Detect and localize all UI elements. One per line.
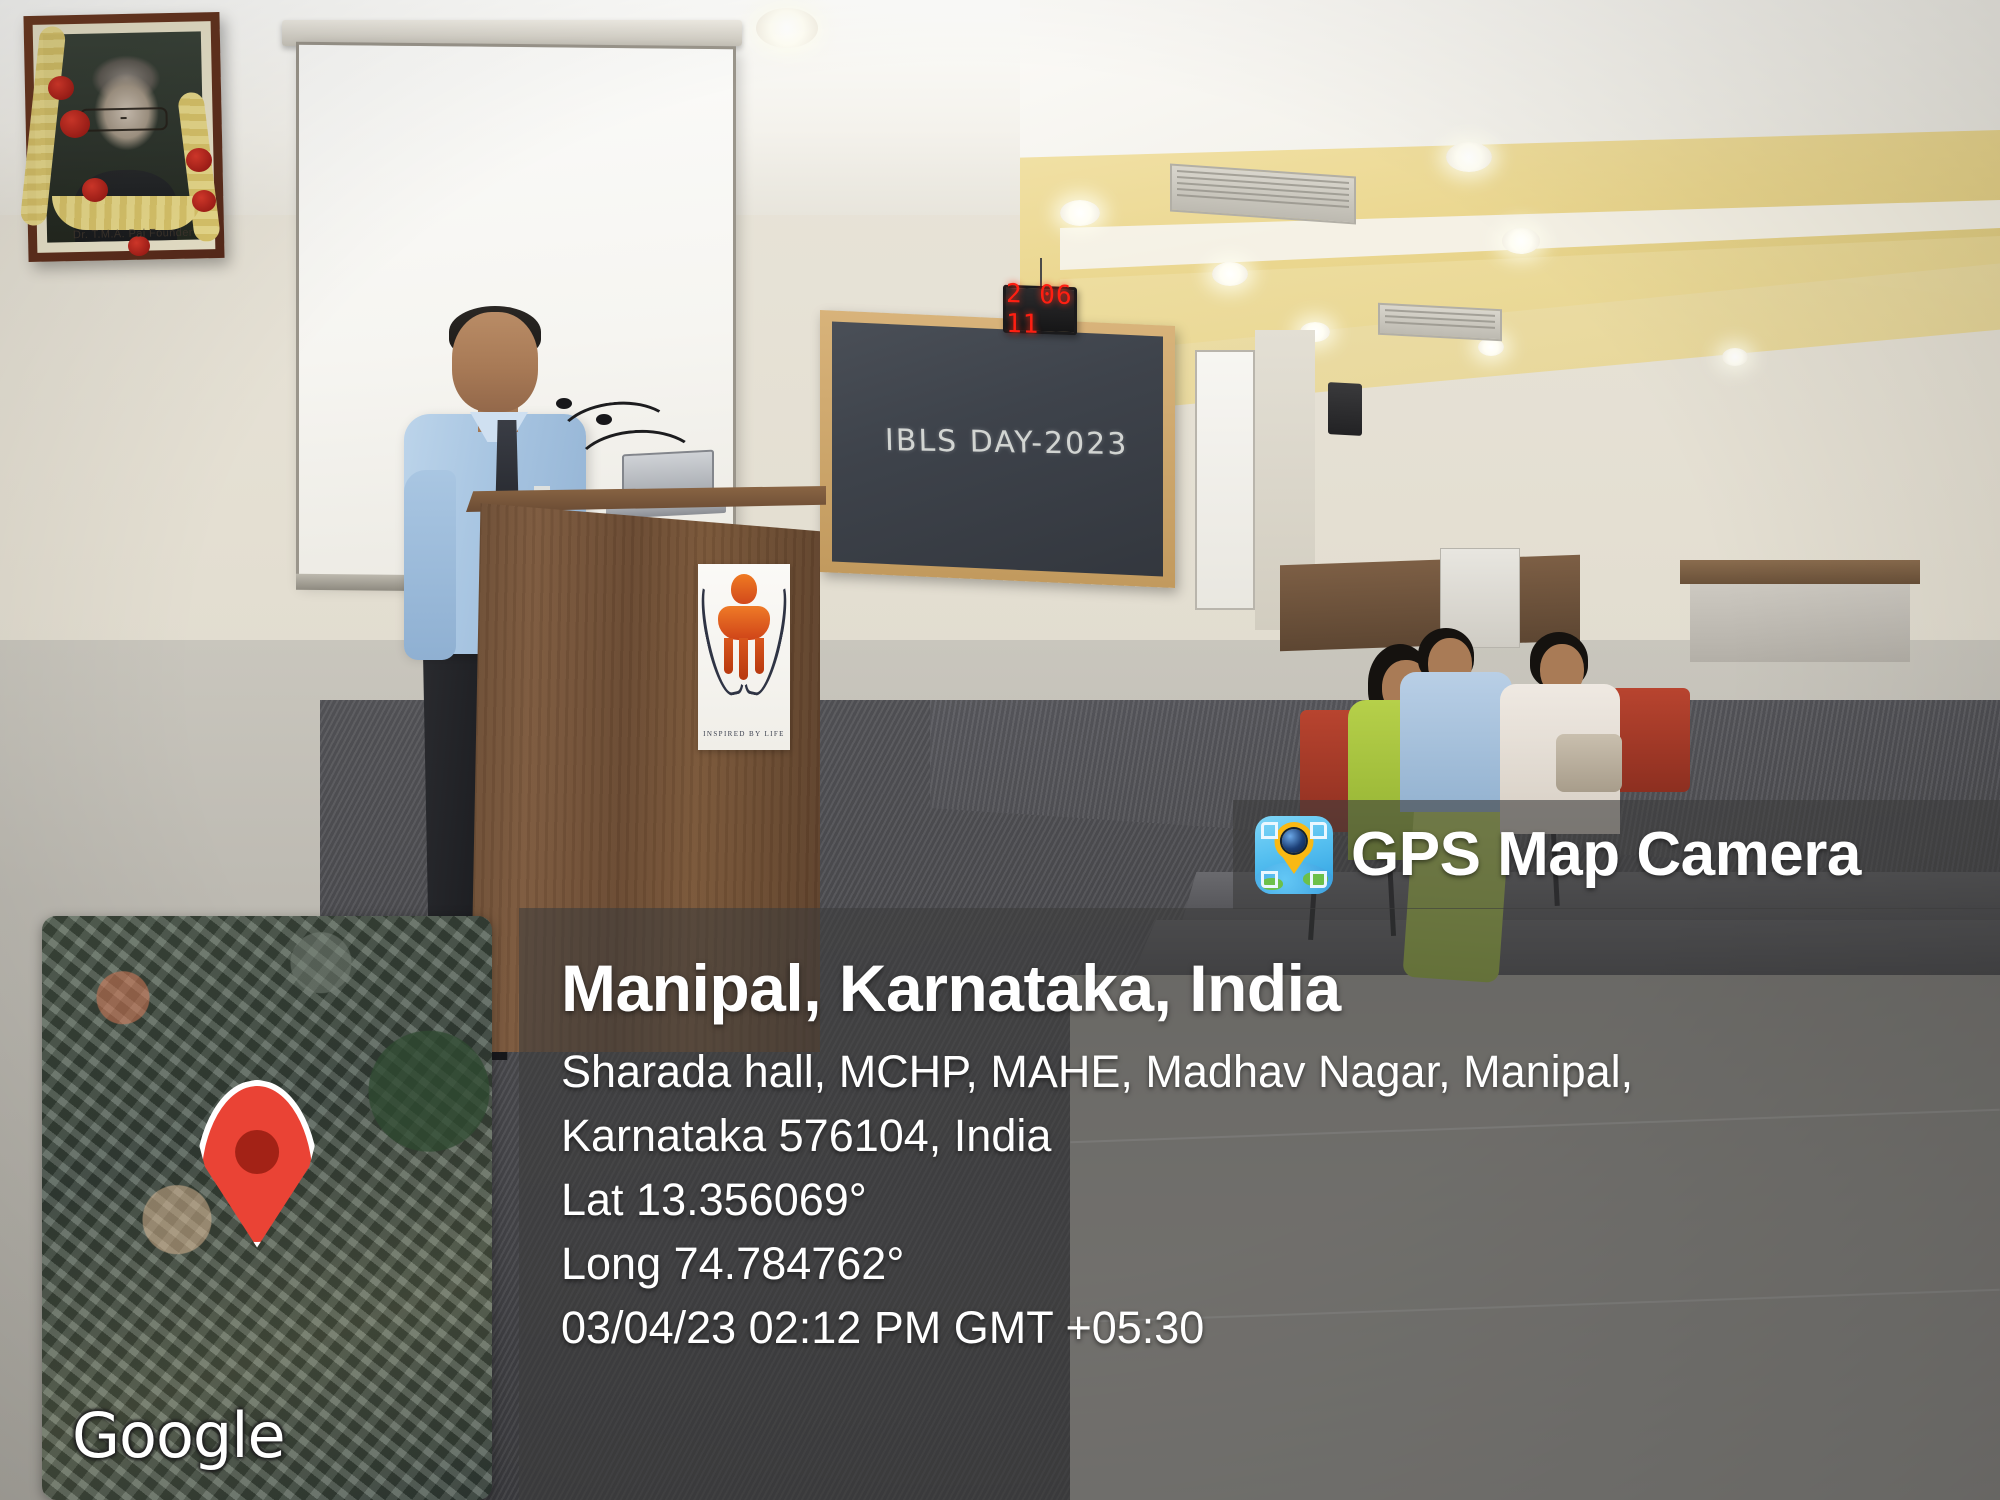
spectacles-icon (79, 107, 168, 132)
blackboard-text: IBLS DAY-2023 (885, 423, 1111, 462)
gps-place-name: Manipal, Karnataka, India (561, 955, 1961, 1021)
gps-latitude: Lat 13.356069° (561, 1168, 1981, 1232)
gps-address-line-2: Karnataka 576104, India (561, 1104, 1981, 1168)
focus-bracket-icon (1310, 871, 1327, 888)
blackboard-frame: IBLS DAY-2023 (820, 310, 1175, 588)
audience-person-body (1400, 672, 1512, 812)
portrait-caption: Dr. T.M.A. Pai Founder (48, 226, 218, 250)
garland-flower (82, 178, 108, 202)
emblem-motto: INSPIRED BY LIFE (698, 730, 790, 738)
microphone-head (556, 398, 572, 409)
screenshot-root: Dr. T.M.A. Pai Founder IBLS DAY-2023 2 0… (0, 0, 2000, 1500)
ceiling-light (1212, 262, 1248, 286)
ceiling-light (1722, 348, 1748, 366)
gps-map-camera-icon (1255, 816, 1333, 894)
garland-flower (192, 190, 216, 212)
gps-detail-lines: Sharada hall, MCHP, MAHE, Madhav Nagar, … (561, 1040, 1981, 1359)
gps-timestamp: 03/04/23 02:12 PM GMT +05:30 (561, 1296, 1981, 1360)
gps-app-name: GPS Map Camera (1351, 824, 1861, 886)
ceiling-light (756, 8, 818, 48)
google-watermark: Google (72, 1399, 285, 1472)
presenter-head (452, 312, 538, 412)
ceiling-light (1446, 142, 1492, 172)
focus-bracket-icon (1261, 871, 1278, 888)
map-thumbnail[interactable]: Google (42, 916, 492, 1500)
presenter-arm (404, 470, 456, 660)
focus-bracket-icon (1261, 822, 1278, 839)
garland-flower (186, 148, 212, 172)
clock-display: 2 06 11 (1006, 279, 1074, 341)
garland-flower (60, 110, 90, 138)
ceiling-light (1060, 200, 1100, 226)
emblem-wreath-icon (704, 578, 784, 708)
ac-grille (1378, 303, 1502, 341)
wall-speaker (1328, 382, 1362, 436)
digital-clock: 2 06 11 (1003, 285, 1077, 336)
counter-front (1690, 584, 1910, 662)
blackboard: IBLS DAY-2023 (832, 321, 1163, 576)
counter-top (1680, 560, 1920, 584)
handbag (1556, 734, 1622, 792)
gps-app-title-bar: GPS Map Camera (1233, 800, 2000, 909)
institution-emblem: INSPIRED BY LIFE (698, 564, 790, 750)
map-pin-icon (195, 1080, 319, 1248)
gps-longitude: Long 74.784762° (561, 1232, 1981, 1296)
audience-chair (1610, 688, 1690, 792)
gps-address-line-1: Sharada hall, MCHP, MAHE, Madhav Nagar, … (561, 1040, 1981, 1104)
garland-bottom (52, 196, 202, 230)
ceiling-light (1502, 228, 1540, 254)
garland-flower (48, 76, 74, 100)
wall-screen-right (1195, 350, 1255, 610)
focus-bracket-icon (1310, 822, 1327, 839)
microphone-head (596, 414, 612, 425)
